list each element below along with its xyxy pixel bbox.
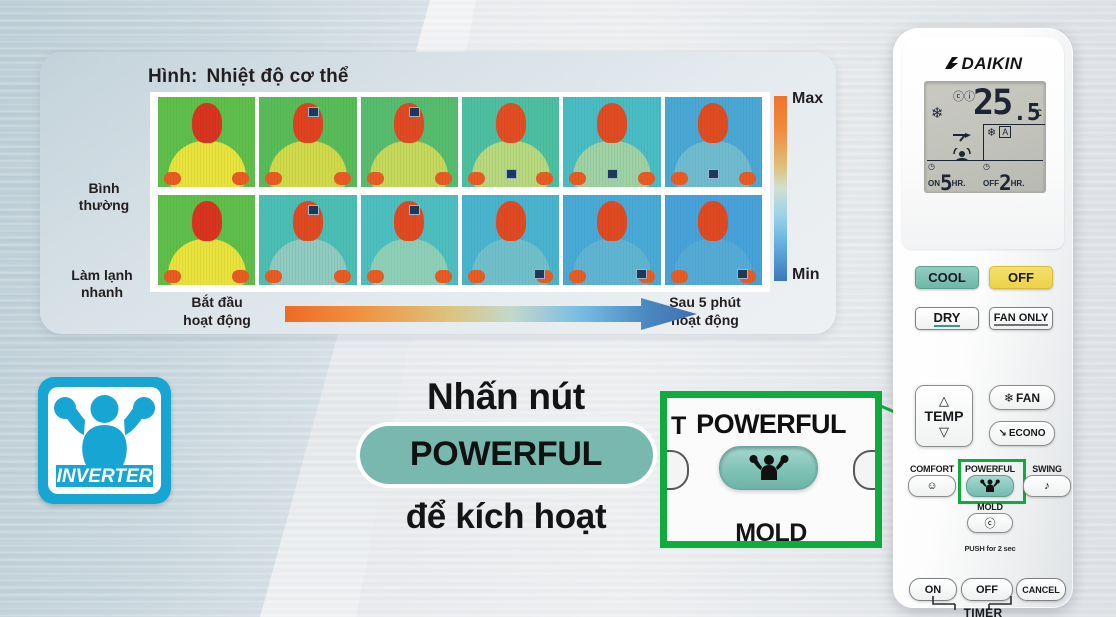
time-progress-arrow [285,298,697,330]
thermal-row-fastcool [158,195,762,285]
remote-top-face: DAIKIN ⓒⓘ ❄ 25 .5 ℃ ❄A [902,37,1064,249]
thermal-frame [259,97,356,187]
powerful-button-callout: T POWERFUL MOLD [660,391,882,548]
thermal-frame [158,195,255,285]
callout-powerful-label: POWERFUL [667,409,875,440]
thermal-frame [462,195,559,285]
caption-start: Bắt đầu hoạt động [152,294,282,329]
fan-blade-icon: ❄ [1004,391,1014,405]
row-label-normal-line1: Bình [88,180,119,196]
econo-arrow-icon: ↘ [998,428,1006,439]
daikin-brand-text: DAIKIN [962,54,1023,73]
off-button[interactable]: OFF [989,266,1053,289]
row-label-fastcool: Làm lạnh nhanh [58,267,146,301]
lcd-timer-off-value: 2 [999,171,1011,195]
thermal-scanline-overlay [462,195,559,285]
thermal-scanline-overlay [158,97,255,187]
lcd-clock-icon-on: ◷ [928,162,935,171]
thermal-panel: Hình:Nhiệt độ cơ thể Bình thường Làm lạn… [40,52,836,334]
powerful-button[interactable] [966,475,1014,497]
chevron-up-icon: △ [939,394,949,407]
cool-button-label: COOL [928,270,966,285]
thermal-frame [259,195,356,285]
thermal-frame [158,97,255,187]
row-label-fastcool-line2: nhanh [81,284,123,300]
comfort-button-group[interactable]: COMFORT ☺ [906,464,958,497]
thermal-frame [665,195,762,285]
temp-button-label: TEMP [925,408,964,424]
thermal-scanline-overlay [361,195,458,285]
daikin-brand: DAIKIN [902,54,1064,75]
mold-button-label: MOLD [955,502,1025,512]
off-button-label: OFF [1008,270,1034,285]
lcd-temperature-unit: ℃ [1031,108,1042,119]
fan-only-button[interactable]: FAN ONLY [989,307,1053,330]
lcd-timer-on-unit: HR. [952,179,966,188]
colorbar-max-label: Max [792,90,823,108]
powerful-button-group[interactable]: POWERFUL [962,464,1018,497]
lcd-swing-icon [951,132,973,148]
thermal-scanline-overlay [259,195,356,285]
lcd-snowflake-icon: ❄ [931,106,944,121]
dry-button-label: DRY [934,310,961,327]
lcd-temperature-value: 25 [973,86,1011,121]
callout-powerful-button[interactable] [719,446,818,490]
mold-proof-icon: ⓒ [985,515,996,531]
temperature-colorbar [774,96,787,281]
thermal-row-normal [158,97,762,187]
caption-start-line2: hoạt động [183,312,251,328]
mold-button[interactable]: ⓒ [967,513,1013,533]
colorbar-min-label: Min [792,266,820,284]
dry-button[interactable]: DRY [915,307,979,330]
thermal-scanline-overlay [563,195,660,285]
daikin-remote-control: DAIKIN ⓒⓘ ❄ 25 .5 ℃ ❄A [893,28,1073,608]
infographic-stage: Hình:Nhiệt độ cơ thể Bình thường Làm lạn… [0,0,1116,617]
chevron-down-icon: ▽ [939,425,949,438]
thermal-scanline-overlay [259,97,356,187]
timer-cancel-label: CANCEL [1022,585,1060,595]
lcd-timer-on-value: 5 [940,171,952,195]
timer-on-label: ON [925,584,942,596]
lcd-fan-mode: A [999,126,1011,138]
instruction-block: Nhấn nút POWERFUL để kích hoạt [356,378,656,537]
panel-title-prefix: Hình: [148,66,198,87]
panel-title-main: Nhiệt độ cơ thể [207,66,349,87]
caption-start-line1: Bắt đầu [191,294,242,310]
row-label-normal: Bình thường [60,180,148,214]
swing-button-label: SWING [1022,464,1072,474]
lcd-timer-off-label: OFF [983,179,999,188]
thermal-frame [361,97,458,187]
row-label-normal-line2: thường [79,197,129,213]
inverter-badge-inner: INVERTER [48,387,161,494]
swing-button-group[interactable]: SWING ♪ [1022,464,1072,497]
daikin-logo-icon [944,55,959,75]
lcd-divider-timer [927,160,1043,161]
thermal-scanline-overlay [158,195,255,285]
lcd-divider-horizontal [983,124,1045,125]
thermal-frame [361,195,458,285]
thermal-frame [665,97,762,187]
temp-button[interactable]: △ TEMP ▽ [915,385,973,447]
mold-push-note: PUSH for 2 sec [955,544,1025,553]
timer-off-label: OFF [976,584,998,596]
comfort-person-icon: ☺ [926,480,937,492]
thermal-frame [462,97,559,187]
lcd-divider-vertical [983,124,984,160]
inverter-muscle-icon: INVERTER [48,387,161,494]
thermal-scanline-overlay [665,97,762,187]
fan-only-button-label: FAN ONLY [994,312,1049,326]
mold-button-group[interactable]: MOLD ⓒ [955,502,1025,533]
lcd-fan-row: ❄A [987,126,1011,139]
lcd-clock-icon-off: ◷ [983,162,990,171]
panel-title: Hình:Nhiệt độ cơ thể [148,66,349,88]
thermal-scanline-overlay [361,97,458,187]
inverter-label: INVERTER [57,466,153,487]
cool-button[interactable]: COOL [915,266,979,289]
powerful-pill: POWERFUL [360,426,653,484]
comfort-button[interactable]: ☺ [908,475,956,497]
econo-button[interactable]: ↘ECONO [989,421,1055,446]
thermal-frame [563,195,660,285]
lcd-timer-on: ◷ ON5HR. [928,162,965,195]
row-label-fastcool-line1: Làm lạnh [71,267,132,283]
thermal-frame [563,97,660,187]
inverter-badge: INVERTER [38,377,171,504]
powerful-button-label: POWERFUL [962,464,1018,474]
powerful-pill-label: POWERFUL [410,435,602,474]
fan-button[interactable]: ❄FAN [989,385,1055,410]
lcd-cf-icon: ⓒⓘ [953,88,975,104]
muscle-figure-small-icon [980,479,1000,493]
econo-button-label: ECONO [1009,428,1046,439]
swing-wave-icon: ♪ [1044,480,1050,492]
instruction-line-1: Nhấn nút [356,378,656,417]
callout-neighbor-button-right [853,450,882,490]
thermal-scanline-overlay [462,97,559,187]
callout-mold-label: MOLD [667,519,875,548]
thermal-scanline-overlay [563,97,660,187]
instruction-line-3: để kích hoạt [356,497,656,537]
thermal-image-card [150,92,770,292]
lcd-timer-off: ◷ OFF2HR. [983,162,1024,195]
lcd-fan-icon: ❄ [987,127,996,139]
muscle-figure-icon [749,454,789,482]
swing-button[interactable]: ♪ [1023,475,1071,497]
remote-lcd-display: ⓒⓘ ❄ 25 .5 ℃ ❄A [924,81,1046,193]
lcd-timer-off-unit: HR. [1011,179,1025,188]
comfort-button-label: COMFORT [906,464,958,474]
callout-neighbor-button-left [660,450,689,490]
thermal-scanline-overlay [665,195,762,285]
fan-button-label: FAN [1016,391,1040,405]
timer-group-label: TIMER [903,606,1063,617]
lcd-timer-on-label: ON [928,179,940,188]
